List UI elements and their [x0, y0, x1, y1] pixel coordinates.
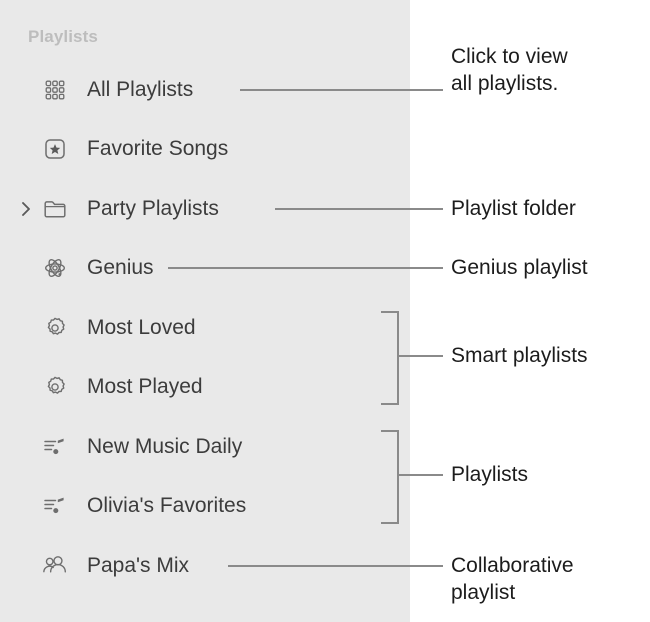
annotation-genius-playlist: Genius playlist	[451, 254, 588, 281]
bracket-smart-playlists	[381, 311, 399, 405]
annotation-playlist-folder: Playlist folder	[451, 195, 576, 222]
gear-icon	[42, 374, 68, 400]
sidebar-item-label: Genius	[87, 251, 154, 285]
atom-icon	[42, 255, 68, 281]
sidebar-item-label: Most Loved	[87, 311, 196, 345]
sidebar-section-header: Playlists	[28, 27, 98, 47]
leader-line-genius	[168, 267, 443, 269]
grid-icon	[42, 77, 68, 103]
playlists-sidebar: Playlists Al	[0, 0, 410, 622]
playlist-note-icon	[42, 493, 68, 519]
bracket-playlists	[381, 430, 399, 524]
screenshot-canvas: Playlists Al	[0, 0, 650, 622]
sidebar-item-label: Most Played	[87, 370, 203, 404]
people-icon	[42, 553, 68, 579]
gear-icon	[42, 315, 68, 341]
chevron-right-icon[interactable]	[18, 192, 34, 226]
leader-line-playlists	[397, 474, 443, 476]
star-square-icon	[42, 136, 68, 162]
annotation-all-playlists: Click to view all playlists.	[451, 43, 568, 97]
leader-line-all-playlists	[240, 89, 443, 91]
sidebar-item-label: Favorite Songs	[87, 132, 228, 166]
sidebar-item-label: All Playlists	[87, 73, 193, 107]
annotation-playlists: Playlists	[451, 461, 528, 488]
leader-line-party-playlists	[275, 208, 443, 210]
leader-line-papas-mix	[228, 565, 443, 567]
leader-line-smart-playlists	[397, 355, 443, 357]
sidebar-item-label: Papa's Mix	[87, 549, 189, 583]
folder-icon	[42, 196, 68, 222]
sidebar-item-label: New Music Daily	[87, 430, 242, 464]
sidebar-item-label: Olivia's Favorites	[87, 489, 246, 523]
annotation-collaborative-playlist: Collaborative playlist	[451, 552, 574, 606]
playlist-note-icon	[42, 434, 68, 460]
annotation-smart-playlists: Smart playlists	[451, 342, 588, 369]
sidebar-item-label: Party Playlists	[87, 192, 219, 226]
